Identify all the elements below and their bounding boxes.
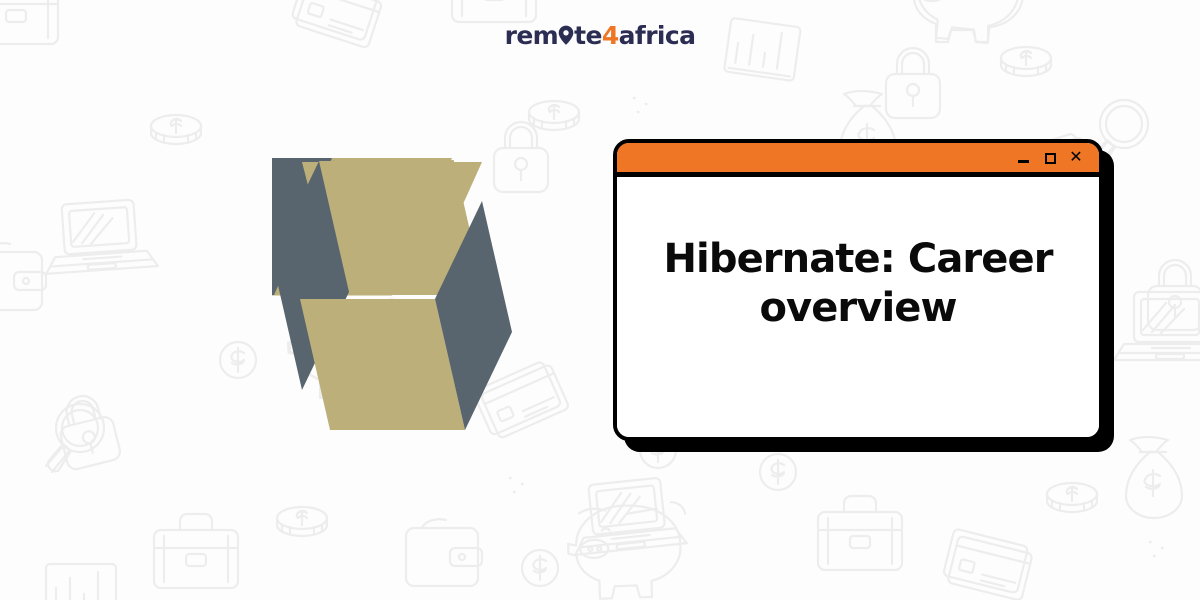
hibernate-logo (272, 158, 512, 433)
window-content-area: Hibernate: Career overview (617, 177, 1099, 437)
brand-wordmark: rem te4africa (0, 22, 1200, 48)
minimize-icon[interactable] (1015, 149, 1033, 167)
close-icon[interactable]: ✕ (1067, 148, 1085, 167)
brand-four: 4 (602, 23, 619, 48)
location-pin-icon (558, 22, 574, 44)
browser-window-mockup: ✕ Hibernate: Career overview (613, 139, 1103, 441)
brand-middle: te (574, 23, 602, 48)
page-title: Hibernate: Career overview (647, 235, 1069, 333)
window-titlebar: ✕ (617, 143, 1099, 177)
poster-canvas: rem te4africa (0, 0, 1200, 600)
brand-prefix: rem (505, 23, 559, 48)
maximize-icon[interactable] (1041, 149, 1059, 167)
brand-suffix: africa (619, 23, 696, 48)
